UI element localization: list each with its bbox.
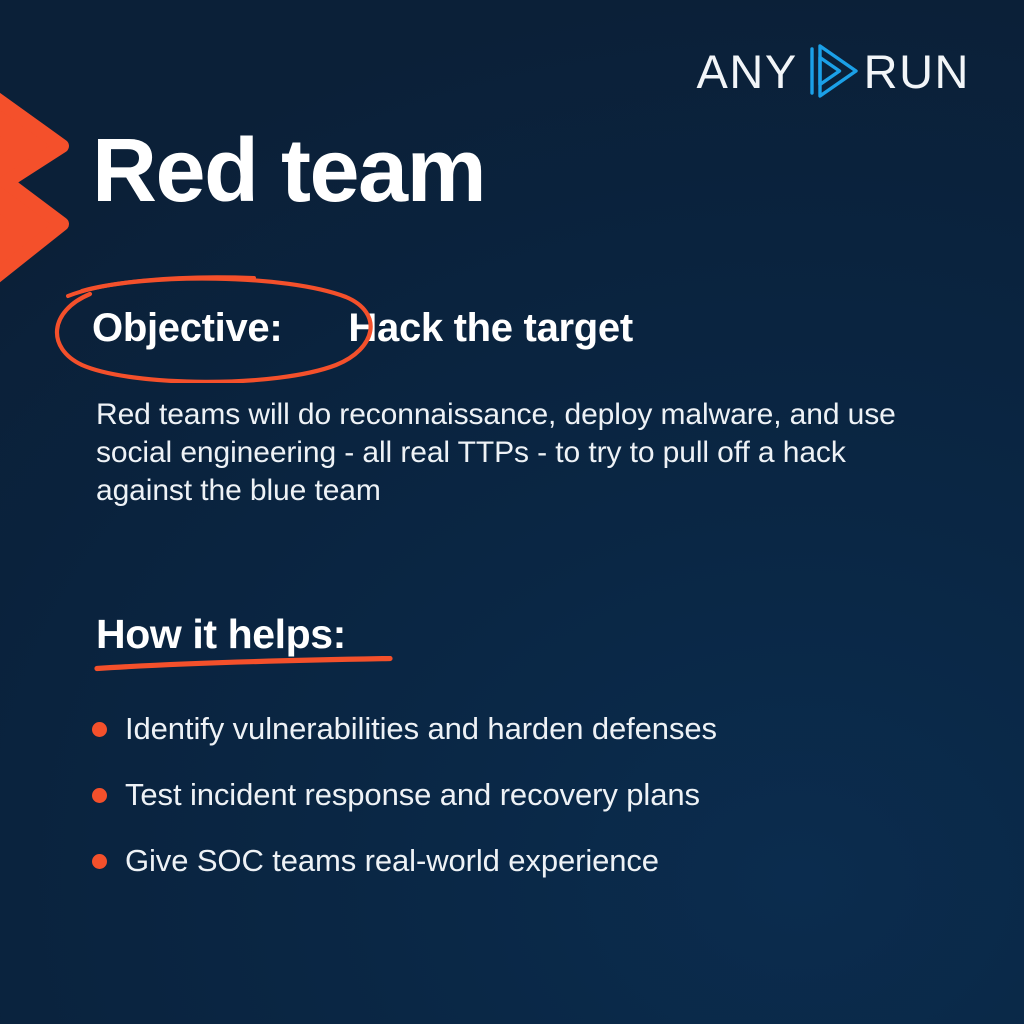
description-text: Red teams will do reconnaissance, deploy… [96,396,896,509]
play-triangle-icon [800,40,862,102]
helps-heading-group: How it helps: [96,614,346,655]
objective-label: Objective: [92,308,282,348]
list-item: Test incident response and recovery plan… [92,762,922,828]
helps-heading: How it helps: [96,614,346,655]
logo-text-run: RUN [864,48,970,95]
benefits-list: Identify vulnerabilities and harden defe… [92,696,922,894]
anyrun-logo: ANY RUN [697,40,970,102]
bullet-dot-icon [92,722,107,737]
list-item-label: Test incident response and recovery plan… [125,778,700,812]
objective-value: Hack the target [348,308,633,348]
bullet-dot-icon [92,788,107,803]
objective-row: Objective: Hack the target [92,308,633,348]
list-item-label: Give SOC teams real-world experience [125,844,659,878]
logo-text-any: ANY [697,48,798,95]
double-chevron-icon [0,84,86,294]
hand-drawn-underline-icon [94,656,394,674]
list-item-label: Identify vulnerabilities and harden defe… [125,712,717,746]
list-item: Identify vulnerabilities and harden defe… [92,696,922,762]
slide-canvas: ANY RUN Red team Objective: Hack the tar… [0,0,1024,1024]
bullet-dot-icon [92,854,107,869]
list-item: Give SOC teams real-world experience [92,828,922,894]
page-title: Red team [92,126,485,216]
